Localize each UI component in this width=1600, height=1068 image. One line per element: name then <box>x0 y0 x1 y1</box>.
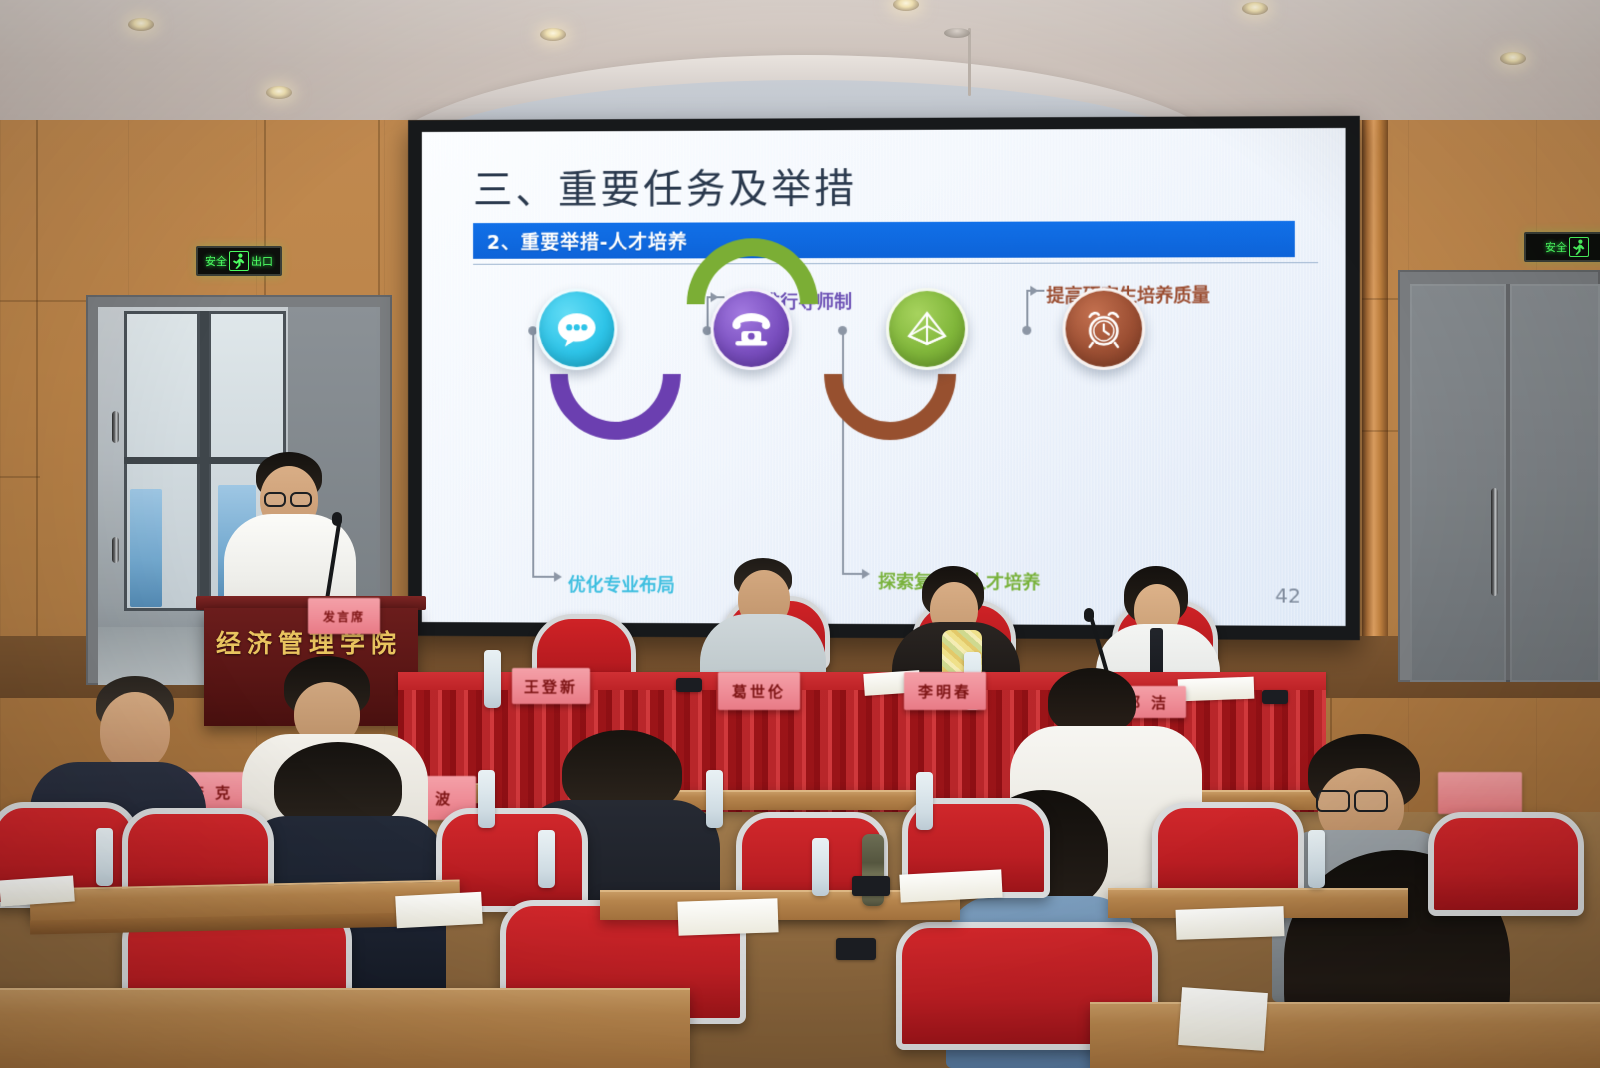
ceiling-speaker <box>944 28 970 38</box>
presentation-slide: 三、重要任务及举措 2、重要举措-人才培养 全面推行导师制 提高研究生培养质量 … <box>422 128 1346 626</box>
slide-node-speech-bubble <box>536 288 617 370</box>
copper-pilaster <box>1362 120 1388 680</box>
speaker-glasses <box>264 492 286 507</box>
exit-sign-text-left-part: 安全 <box>1545 242 1567 253</box>
mobile-phone[interactable] <box>852 876 890 896</box>
head-table-nameplate-3: 李明春 <box>904 672 986 710</box>
water-bottle[interactable] <box>96 828 113 886</box>
slide-title: 三、重要任务及举措 <box>473 156 857 215</box>
head-table-microphone-head <box>1084 608 1094 622</box>
document-paper[interactable] <box>899 869 1002 902</box>
person-hair <box>1048 668 1136 734</box>
wall-seam <box>0 476 40 478</box>
ceiling-downlight <box>128 18 154 31</box>
slide-node-envelope <box>886 288 968 370</box>
alarm-clock-icon <box>1083 308 1125 350</box>
water-bottle-cases <box>130 489 162 607</box>
running-man-exit-icon <box>229 251 249 271</box>
audience-nameplate-3 <box>1438 772 1522 814</box>
slide-label-bottom-1: 优化专业布局 <box>568 571 675 597</box>
water-bottle[interactable] <box>538 830 555 888</box>
slide-section-bar: 2、重要举措-人才培养 <box>473 221 1295 259</box>
speaker-glasses <box>290 492 312 507</box>
document-paper[interactable] <box>1176 906 1285 940</box>
hallway-door-handle[interactable] <box>112 411 119 443</box>
document-paper[interactable] <box>395 892 483 928</box>
slide-page-number: 42 <box>1275 583 1301 607</box>
slide-node-telephone <box>711 288 793 370</box>
audience-chair[interactable] <box>1428 812 1584 916</box>
water-bottle[interactable] <box>916 772 933 830</box>
document-paper[interactable] <box>0 875 75 906</box>
telephone-icon <box>729 311 773 347</box>
exit-sign-left: 安全 出口 <box>196 246 282 276</box>
running-man-exit-icon <box>1569 237 1589 257</box>
audience-table-row3-front <box>0 988 690 1068</box>
water-bottle[interactable] <box>1308 830 1325 888</box>
projection-screen-bezel: 三、重要任务及举措 2、重要举措-人才培养 全面推行导师制 提高研究生培养质量 … <box>408 116 1360 640</box>
projection-screen: 三、重要任务及举措 2、重要举措-人才培养 全面推行导师制 提高研究生培养质量 … <box>422 128 1346 626</box>
person-head <box>100 692 170 770</box>
document-paper[interactable] <box>1178 987 1268 1051</box>
exit-sign-text-right-part: 出口 <box>251 256 273 267</box>
water-bottle[interactable] <box>484 650 501 708</box>
head-table-nameplate-2: 葛世伦 <box>718 672 800 710</box>
envelope-icon <box>906 310 948 348</box>
slide-node-alarm-clock <box>1063 288 1146 370</box>
slide-section-bar-label: 2、重要举措-人才培养 <box>473 227 688 254</box>
right-door-leaf-right[interactable] <box>1510 284 1600 682</box>
water-bottle[interactable] <box>478 770 495 828</box>
mobile-phone[interactable] <box>1262 690 1288 704</box>
ceiling-downlight <box>266 86 292 99</box>
ceiling-downlight <box>1242 2 1268 15</box>
head-table-nameplate-1: 王登新 <box>512 668 590 704</box>
ceiling-downlight <box>1500 52 1526 65</box>
document-paper[interactable] <box>1178 677 1255 702</box>
exit-sign-text-left-part: 安全 <box>205 256 227 267</box>
podium-microphone-head <box>332 512 342 526</box>
wall-seam <box>36 120 38 680</box>
right-door-leaf-left[interactable] <box>1410 284 1506 682</box>
water-bottle[interactable] <box>706 770 723 828</box>
ceiling-downlight <box>540 28 566 41</box>
water-bottle[interactable] <box>812 838 829 896</box>
conference-room-photo: 安全 出口 安全 三、重要任务及举措 2、重要举措-人才培养 <box>0 0 1600 1068</box>
wall-seam <box>264 120 266 320</box>
slide-section-underline <box>473 262 1318 265</box>
door-gap <box>1506 284 1510 682</box>
audience-table-row3-right <box>1090 1002 1600 1068</box>
person-glasses <box>1354 790 1388 812</box>
speech-bubble-icon <box>556 310 598 348</box>
mobile-phone[interactable] <box>836 938 876 960</box>
podium-placard: 发言席 <box>308 598 380 634</box>
exit-sign-right: 安全 <box>1524 232 1600 262</box>
document-paper[interactable] <box>677 898 778 935</box>
speaker-drop-rod <box>968 28 971 96</box>
mobile-phone[interactable] <box>676 678 702 692</box>
person-glasses <box>1316 790 1350 812</box>
hallway-door-handle[interactable] <box>112 537 119 563</box>
right-door-handle[interactable] <box>1491 488 1498 596</box>
